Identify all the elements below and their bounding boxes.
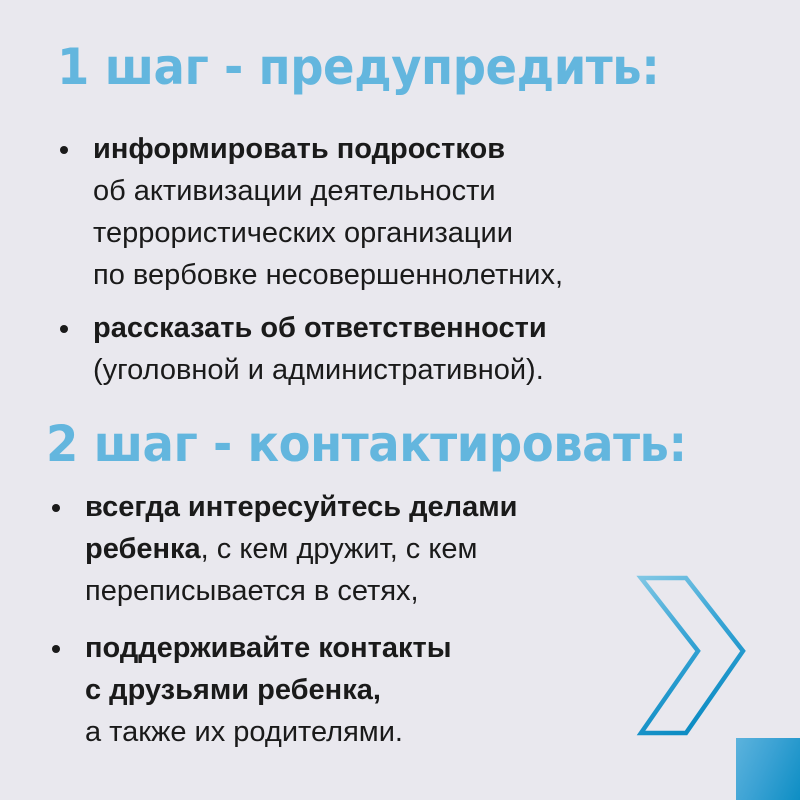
bullet-line: (уголовной и административной).	[93, 349, 563, 391]
step-2-bullet-list: всегда интересуйтесь делами ребенка, с к…	[44, 486, 517, 753]
step-1-bullet-list: информировать подростков об активизации …	[52, 128, 563, 391]
bullet-line: с друзьями ребенка,	[85, 669, 517, 711]
poster-canvas: 1 шаг - предупредить: информировать подр…	[0, 0, 800, 800]
bullet-line: поддерживайте контакты	[85, 627, 517, 669]
bullet-line: террористических организации	[93, 212, 563, 254]
double-chevron-right-icon	[630, 565, 770, 745]
bullet-line: всегда интересуйтесь делами	[85, 486, 517, 528]
bullet-line: рассказать об ответственности	[93, 307, 563, 349]
bullet-line: об активизации деятельности	[93, 170, 563, 212]
bullet-line: по вербовке несовершеннолетних,	[93, 254, 563, 296]
bullet-line: переписывается в сетях,	[85, 570, 517, 612]
list-item: всегда интересуйтесь делами ребенка, с к…	[44, 486, 517, 612]
list-item: поддерживайте контакты с друзьями ребенк…	[44, 627, 517, 753]
bullet-line-bold-part: ребенка	[85, 533, 201, 565]
bullet-line-rest: , с кем дружит, с кем	[201, 533, 478, 565]
corner-accent-square	[736, 738, 800, 800]
bullet-dot-icon	[60, 146, 68, 154]
step-2-heading: 2 шаг - контактировать:	[46, 418, 687, 471]
bullet-dot-icon	[52, 645, 60, 653]
bullet-dot-icon	[52, 504, 60, 512]
step-1-heading: 1 шаг - предупредить:	[57, 41, 659, 94]
bullet-line: информировать подростков	[93, 128, 563, 170]
bullet-line: а также их родителями.	[85, 711, 517, 753]
list-item: информировать подростков об активизации …	[52, 128, 563, 296]
bullet-line-mixed: ребенка, с кем дружит, с кем	[85, 528, 517, 570]
bullet-dot-icon	[60, 325, 68, 333]
list-item: рассказать об ответственности (уголовной…	[52, 307, 563, 391]
